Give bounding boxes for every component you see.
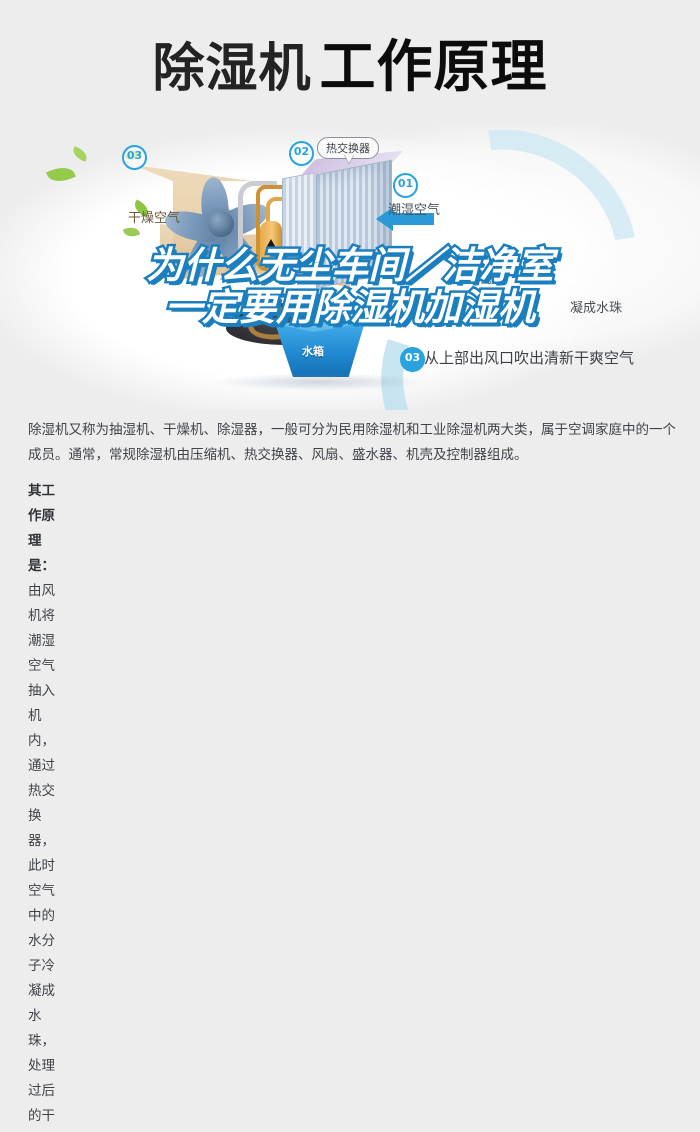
paragraph-2-lead: 其工作原理是： bbox=[28, 483, 55, 574]
fan-hub bbox=[208, 211, 234, 237]
paragraph-1: 除湿机又称为抽湿机、干燥机、除湿器，一般可分为民用除湿机和工业除湿机两大类，属于… bbox=[28, 418, 676, 468]
title-part-working-principle: 工作原理 bbox=[320, 35, 548, 100]
page-title: 除湿机工作原理 bbox=[0, 22, 700, 103]
badge-03-dry-air: 03 bbox=[122, 145, 147, 170]
label-condense: 凝成水珠 bbox=[570, 297, 622, 316]
badge-01-humid-air: 01 bbox=[393, 173, 418, 198]
water-tank-label: 水箱 bbox=[302, 343, 324, 359]
paragraph-2-rest: 由风机将潮湿空气抽入机内，通过热交换器，此时空气中的水分子冷凝成水珠，处理过后的… bbox=[28, 583, 55, 1132]
paragraph-2: 其工作原理是：由风机将潮湿空气抽入机内，通过热交换器，此时空气中的水分子冷凝成水… bbox=[28, 479, 62, 533]
unit-shadow bbox=[214, 373, 424, 391]
callout-heat-exchanger: 热交换器 bbox=[317, 137, 379, 159]
body-copy: 除湿机又称为抽湿机、干燥机、除湿器，一般可分为民用除湿机和工业除湿机两大类，属于… bbox=[28, 418, 676, 543]
flow-arrow-icon bbox=[266, 239, 276, 248]
label-intake-fan: 由风机 bbox=[455, 270, 491, 287]
badge-02-heat-exchanger: 02 bbox=[289, 141, 314, 166]
title-part-dehumidifier: 除湿机 bbox=[152, 39, 311, 99]
label-humid-air: 潮湿空气 bbox=[388, 199, 440, 218]
heat-exchanger-rear-fins bbox=[282, 172, 318, 277]
badge-03-outlet: 03 bbox=[400, 347, 425, 372]
label-outlet-line: 从上部出风口吹出清新干爽空气 bbox=[424, 347, 634, 368]
diagram-stage: 水箱 03 干燥空气 02 热交换器 01 潮湿空气 由风机 凝成水珠 03 从… bbox=[0, 125, 700, 410]
infographic-page: 除湿机工作原理 bbox=[0, 0, 700, 566]
label-dry-air: 干燥空气 bbox=[128, 207, 180, 226]
